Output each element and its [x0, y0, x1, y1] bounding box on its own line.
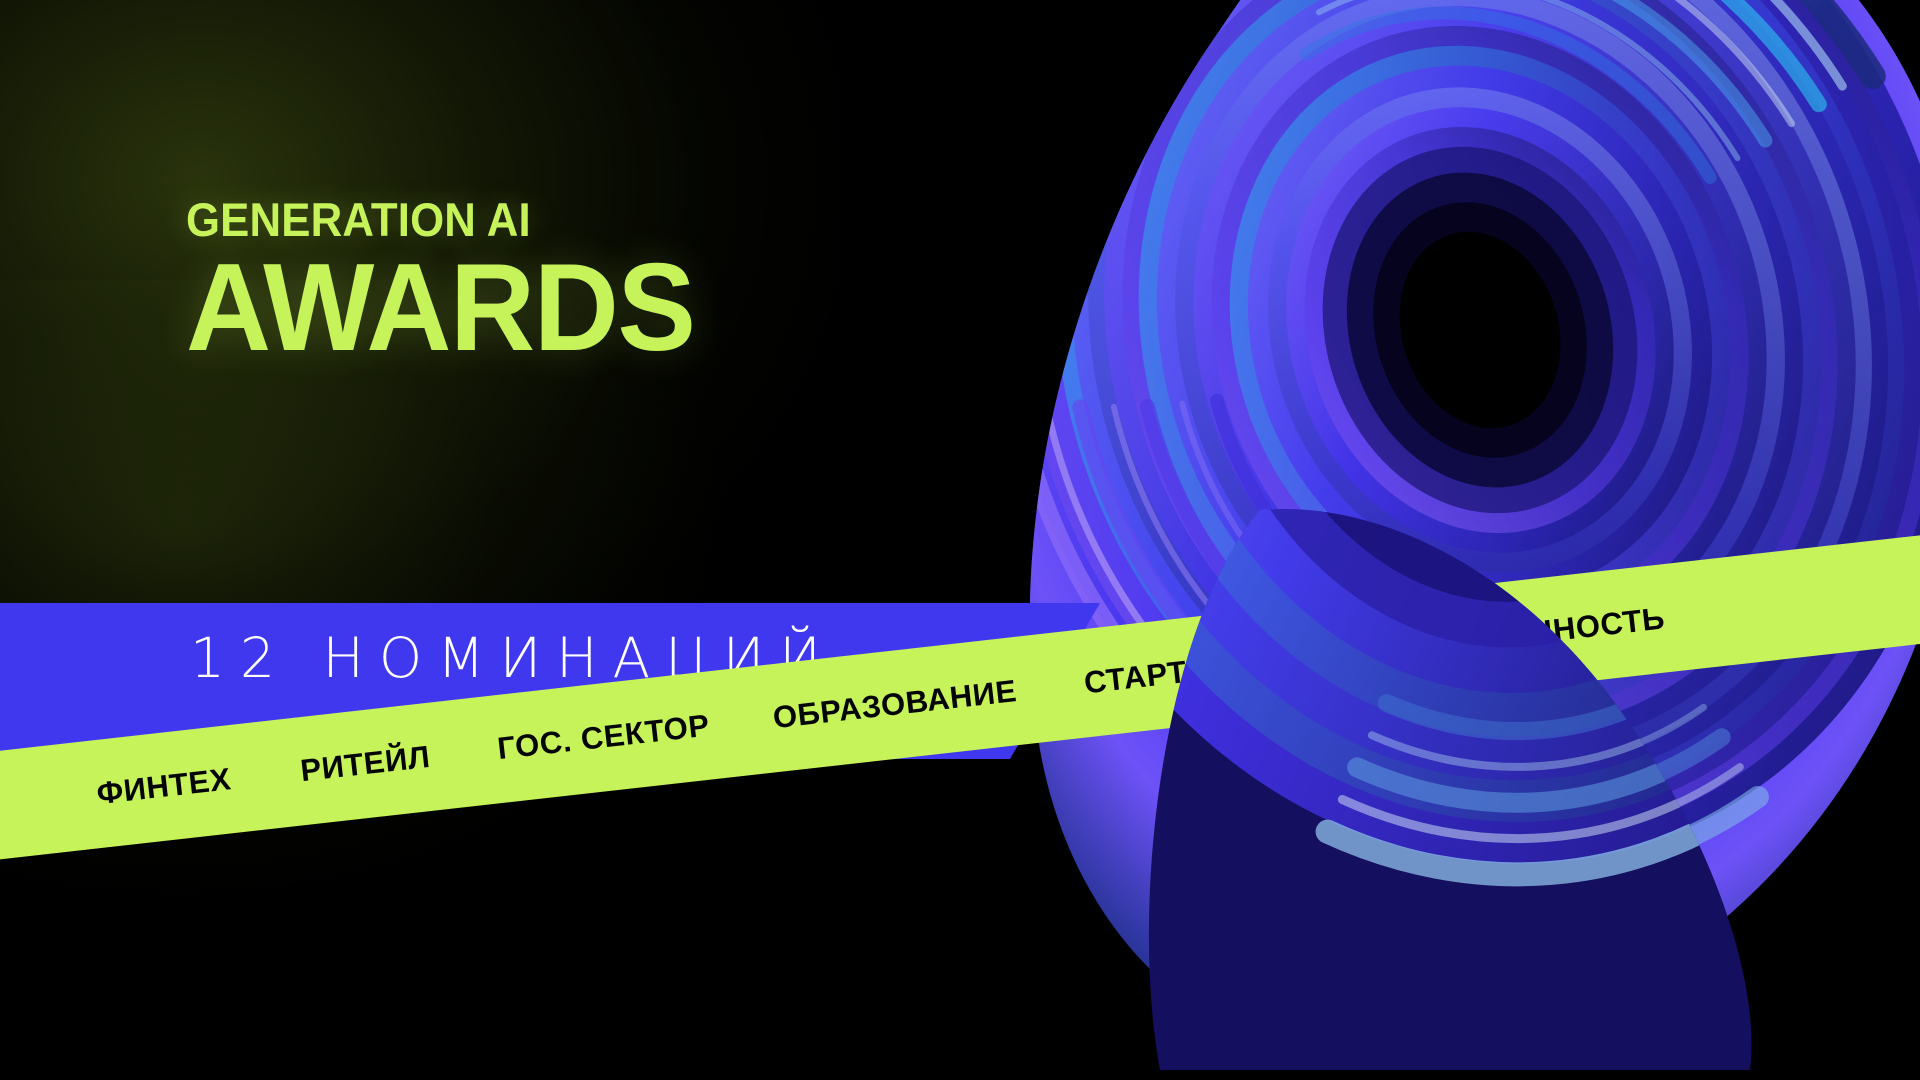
ribbon-item-industry: ПРОМЫШЛЕННОСТЬ	[1328, 600, 1666, 673]
headline-block: GENERATION AI AWARDS	[186, 196, 721, 371]
ribbon-item-education: ОБРАЗОВАНИЕ	[771, 673, 1019, 736]
ribbon-item-fintech: ФИНТЕХ	[95, 761, 233, 812]
ribbon-item-startups: СТАРТАПЫ	[1082, 646, 1263, 702]
page-title-awards: AWARDS	[186, 245, 695, 371]
ribbon-item-gov-sector: ГОС. СЕКТОР	[496, 708, 712, 768]
swirl-foreground-overlay	[960, 0, 1920, 1070]
poster-canvas: GENERATION AI AWARDS 12 НОМИНАЦИЙ ФИНТЕХ…	[0, 0, 1920, 1080]
ribbon-item-retail: РИТЕЙЛ	[299, 739, 432, 789]
kicker-generation-ai: GENERATION AI	[186, 196, 684, 243]
abstract-swirl-artwork	[960, 0, 1920, 1070]
